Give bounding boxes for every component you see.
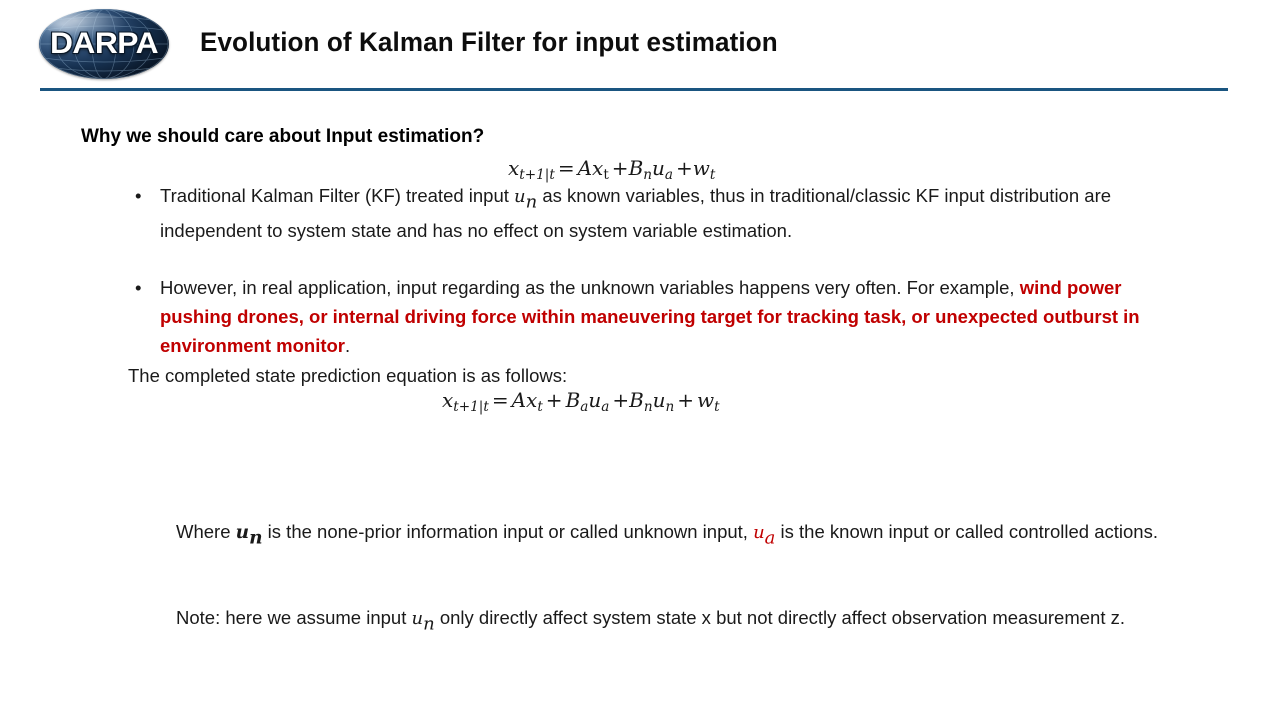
bullet-1-text-part1: Traditional Kalman Filter (KF) treated i… [160,185,514,206]
eq2-op3: + [609,388,629,412]
list-item: • However, in real application, input re… [128,273,1186,360]
bullet-2-text-part1: However, in real application, input rega… [160,277,1020,298]
darpa-logo: DARPA [39,9,169,79]
eq1-term1-var: x [592,156,603,180]
eq1-term1-coef: A [578,156,592,180]
note-part2: only directly affect system state x but … [435,607,1125,628]
bullet-marker-icon: • [135,273,141,302]
where-var-red-sub: a [765,527,776,548]
bullet-1-var-sub: n [526,191,538,212]
eq2-lhs-var: x [442,388,453,412]
eq1-term2-coef: B [629,156,644,180]
eq2-term1-coef: A [512,388,526,412]
where-part3: is the known input or called controlled … [775,521,1158,542]
eq1-op2: + [609,156,629,180]
paragraph-where: Where un is the none-prior information i… [176,517,1186,553]
eq2-term2-coef: B [566,388,581,412]
eq2-term3-sub: n [666,399,675,415]
eq2-term1-var: x [526,388,537,412]
darpa-wordmark: DARPA [39,9,169,79]
page-title: Evolution of Kalman Filter for input est… [200,27,778,58]
eq1-equals: = [555,156,578,180]
where-var-bold-sub: n [249,528,262,549]
note-part1: Note: here we assume input [176,607,412,628]
eq1-op3: + [673,156,693,180]
eq2-op2: + [543,388,566,412]
note-var-sub: n [423,613,435,634]
eq2-equals: = [489,388,512,412]
bullet-list: • Traditional Kalman Filter (KF) treated… [128,181,1186,361]
where-var-bold: u [236,522,249,543]
eq1-term2-var: u [652,156,665,180]
equation-state-prediction-complete: xt+1|t=Axt+Baua+Bnun+wt [442,388,720,415]
bullet-2-text-part2: . [345,335,350,356]
eq2-lhs-sub: t+1|t [453,399,489,415]
note-var: u [412,608,424,629]
eq2-term1-sub: t [537,399,542,415]
eq2-term2-var: u [588,388,601,412]
bullet-marker-icon: • [135,181,141,210]
paragraph-follows: The completed state prediction equation … [128,361,1028,390]
slide-body: Why we should care about Input estimatio… [0,96,1280,720]
eq1-lhs-var: x [508,156,519,180]
eq2-term4-sub: t [714,399,719,415]
eq2-term3-var: u [653,388,666,412]
eq2-op4: + [674,388,697,412]
eq2-term4-var: w [697,388,714,412]
section-heading: Why we should care about Input estimatio… [81,126,484,148]
eq2-term3-coef: B [629,388,644,412]
where-part1: Where [176,521,236,542]
eq2-term3-coef-sub: n [644,399,653,415]
where-var-red: u [753,522,765,543]
where-part2: is the none-prior information input or c… [263,521,754,542]
header-divider [40,88,1228,91]
eq1-term3-var: w [693,156,710,180]
equation-state-prediction-simple: xt+1|t=Axt+Bnua+wt [508,156,715,183]
slide-header: DARPA Evolution of Kalman Filter for inp… [0,0,1280,96]
bullet-1-var: u [514,186,526,207]
list-item: • Traditional Kalman Filter (KF) treated… [128,181,1186,245]
paragraph-note: Note: here we assume input un only direc… [176,603,1208,638]
